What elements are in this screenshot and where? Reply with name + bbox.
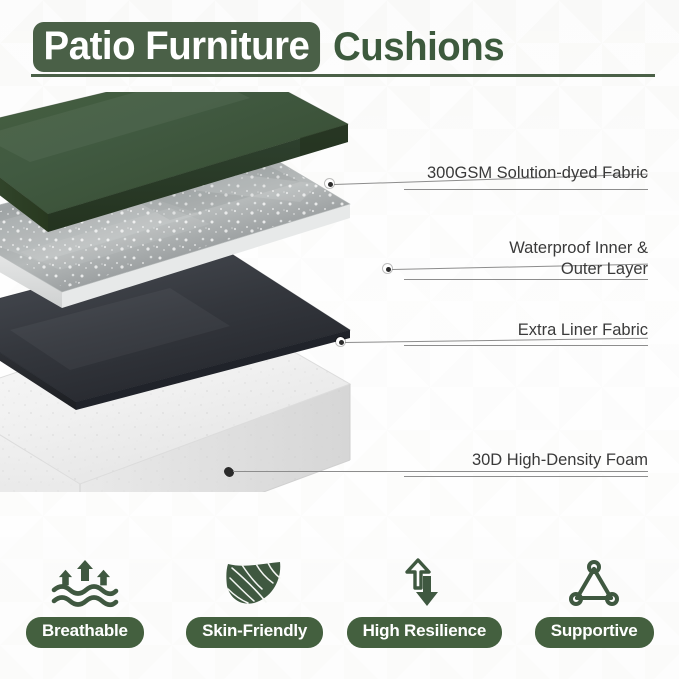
title-underline-rule (31, 74, 655, 77)
feature-label: Supportive (535, 617, 654, 648)
feature-label: Breathable (26, 617, 144, 648)
infographic-page: Patio Furniture Cushions (0, 0, 679, 679)
callout-underline (404, 279, 648, 280)
up-down-arrows-icon (399, 556, 449, 612)
feather-icon (222, 556, 288, 612)
feature-badges: Breathable (0, 556, 679, 679)
feature-label: Skin-Friendly (186, 617, 323, 648)
triangle-nodes-icon (566, 556, 622, 612)
airflow-waves-icon (49, 556, 121, 612)
callout-label: 30D High-Density Foam (348, 450, 648, 471)
callout-dot-icon (325, 179, 334, 188)
title-highlight-pill: Patio Furniture (33, 22, 320, 72)
callout-underline (404, 345, 648, 346)
feature-skin-friendly[interactable]: Skin-Friendly (175, 556, 335, 648)
header: Patio Furniture Cushions (0, 0, 679, 92)
callout-leader-line (233, 471, 648, 472)
feature-supportive[interactable]: Supportive (514, 556, 674, 648)
callout-label: Extra Liner Fabric (348, 320, 648, 341)
page-title: Patio Furniture Cushions (33, 22, 511, 72)
cushion-layer-diagram (0, 92, 460, 492)
callout-dot-icon (336, 337, 345, 346)
title-rest-text: Cushions (333, 26, 504, 68)
callout-underline (404, 189, 648, 190)
callout-underline (404, 476, 648, 477)
feature-high-resilience[interactable]: High Resilience (344, 556, 504, 648)
feature-label: High Resilience (347, 617, 503, 648)
callout-label: 300GSM Solution-dyed Fabric (348, 163, 648, 184)
callout-label: Waterproof Inner & Outer Layer (348, 238, 648, 280)
feature-breathable[interactable]: Breathable (5, 556, 165, 648)
callout-dot-icon (224, 467, 233, 476)
